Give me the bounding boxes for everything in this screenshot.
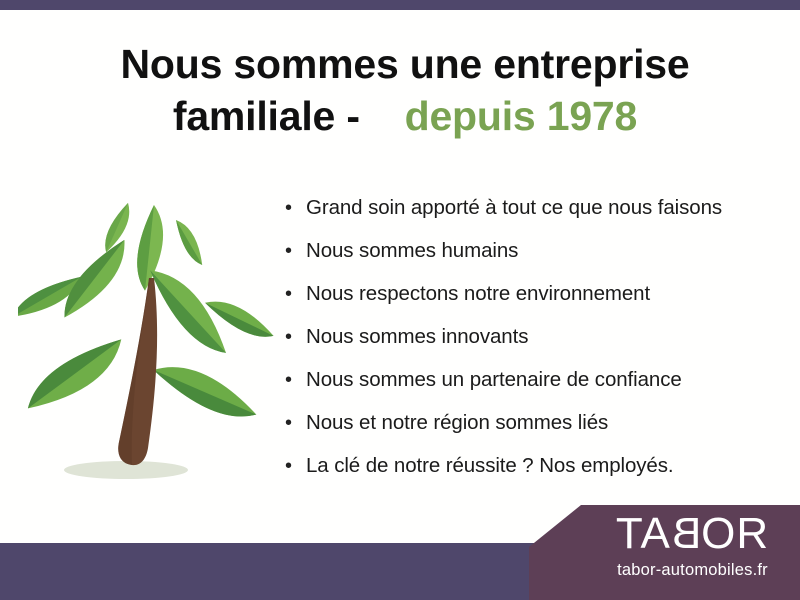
- list-item-label: Nous respectons notre environnement: [306, 278, 650, 310]
- list-item-label: Grand soin apporté à tout ce que nous fa…: [306, 192, 722, 224]
- bullet-marker-icon: •: [285, 407, 306, 439]
- list-item: • Grand soin apporté à tout ce que nous …: [285, 192, 765, 235]
- title-line-1: Nous sommes une entreprise: [60, 38, 750, 90]
- bullet-marker-icon: •: [285, 364, 306, 396]
- list-item: • Nous sommes humains: [285, 235, 765, 278]
- slide-canvas: Nous sommes une entreprise familiale - d…: [0, 0, 800, 600]
- leaf: [54, 233, 137, 325]
- list-item-label: Nous sommes innovants: [306, 321, 528, 353]
- bullet-marker-icon: •: [285, 450, 306, 482]
- leaf: [18, 330, 132, 421]
- list-item: • Nous sommes un partenaire de confiance: [285, 364, 765, 407]
- wordmark-part-1: TA: [616, 509, 671, 558]
- value-bullet-list: • Grand soin apporté à tout ce que nous …: [285, 192, 765, 493]
- page-title: Nous sommes une entreprise familiale - d…: [60, 38, 750, 142]
- list-item: • La clé de notre réussite ? Nos employé…: [285, 450, 765, 493]
- list-item: • Nous respectons notre environnement: [285, 278, 765, 321]
- bullet-marker-icon: •: [285, 278, 306, 310]
- list-item: • Nous sommes innovants: [285, 321, 765, 364]
- leaf: [172, 216, 208, 268]
- title-line-2-accent: depuis 1978: [405, 93, 638, 139]
- tree-shadow: [64, 461, 188, 479]
- list-item: • Nous et notre région sommes liés: [285, 407, 765, 450]
- list-item-label: Nous et notre région sommes liés: [306, 407, 608, 439]
- list-item-label: La clé de notre réussite ? Nos employés.: [306, 450, 673, 482]
- brand-website-tagline: tabor-automobiles.fr: [595, 561, 790, 580]
- wordmark-part-2: OR: [701, 509, 769, 558]
- tree-illustration: [18, 180, 284, 492]
- title-line-2: familiale - depuis 1978: [60, 90, 750, 142]
- bullet-marker-icon: •: [285, 192, 306, 224]
- bullet-marker-icon: •: [285, 321, 306, 353]
- list-item-label: Nous sommes humains: [306, 235, 518, 267]
- top-accent-band: [0, 0, 800, 10]
- list-item-label: Nous sommes un partenaire de confiance: [306, 364, 682, 396]
- bullet-marker-icon: •: [285, 235, 306, 267]
- title-line-2-main: familiale -: [173, 93, 360, 139]
- brand-logo-wordmark: TABOR: [595, 511, 790, 557]
- wordmark-mirrored-b: B: [671, 511, 701, 557]
- leaf: [149, 353, 262, 428]
